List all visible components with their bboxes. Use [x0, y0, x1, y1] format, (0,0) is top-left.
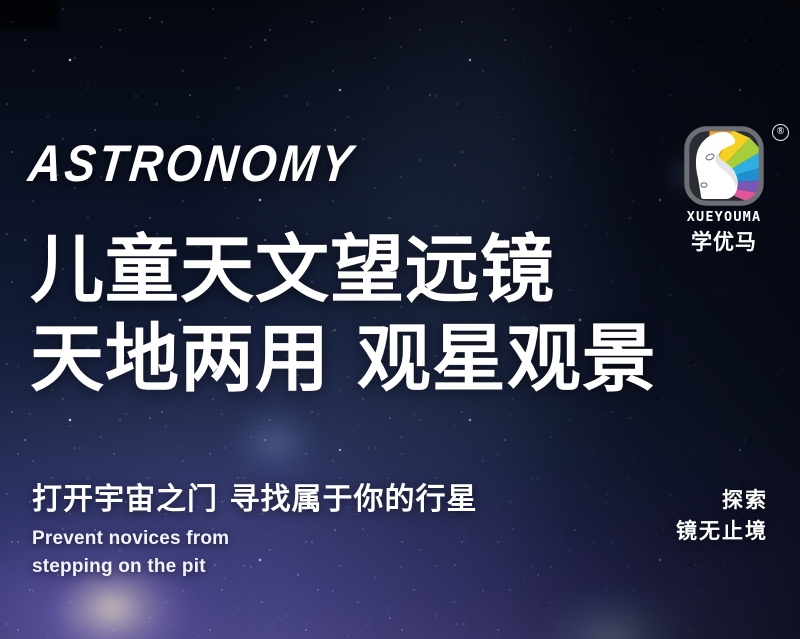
banner-content: ASTRONOMY 儿童天文望远镜 天地两用 观星观景 打开宇宙之门 寻找属于你… — [0, 0, 800, 639]
brand-logo: ® XUEYOUMA 学优马 — [672, 126, 776, 244]
astronomy-telescope-banner: ASTRONOMY 儿童天文望远镜 天地两用 观星观景 打开宇宙之门 寻找属于你… — [0, 0, 800, 639]
english-tagline-line-2: stepping on the pit — [32, 556, 206, 578]
english-tagline-line-1: Prevent novices from — [32, 528, 229, 550]
registered-trademark-icon: ® — [772, 124, 789, 141]
right-tagline-line-2: 镜无止境 — [676, 515, 768, 545]
headline-line-2: 天地两用 观星观景 — [30, 322, 657, 396]
subheadline: 打开宇宙之门 寻找属于你的行星 — [32, 474, 477, 518]
logo-latin-name: XUEYOUMA — [672, 209, 776, 225]
right-tagline-line-1: 探索 — [722, 484, 768, 514]
headline-line-1: 儿童天文望远镜 — [30, 233, 555, 307]
logo-chinese-name: 学优马 — [672, 226, 776, 256]
eyebrow-astronomy: ASTRONOMY — [26, 133, 358, 193]
horse-head-logo-icon: ® — [684, 126, 764, 206]
